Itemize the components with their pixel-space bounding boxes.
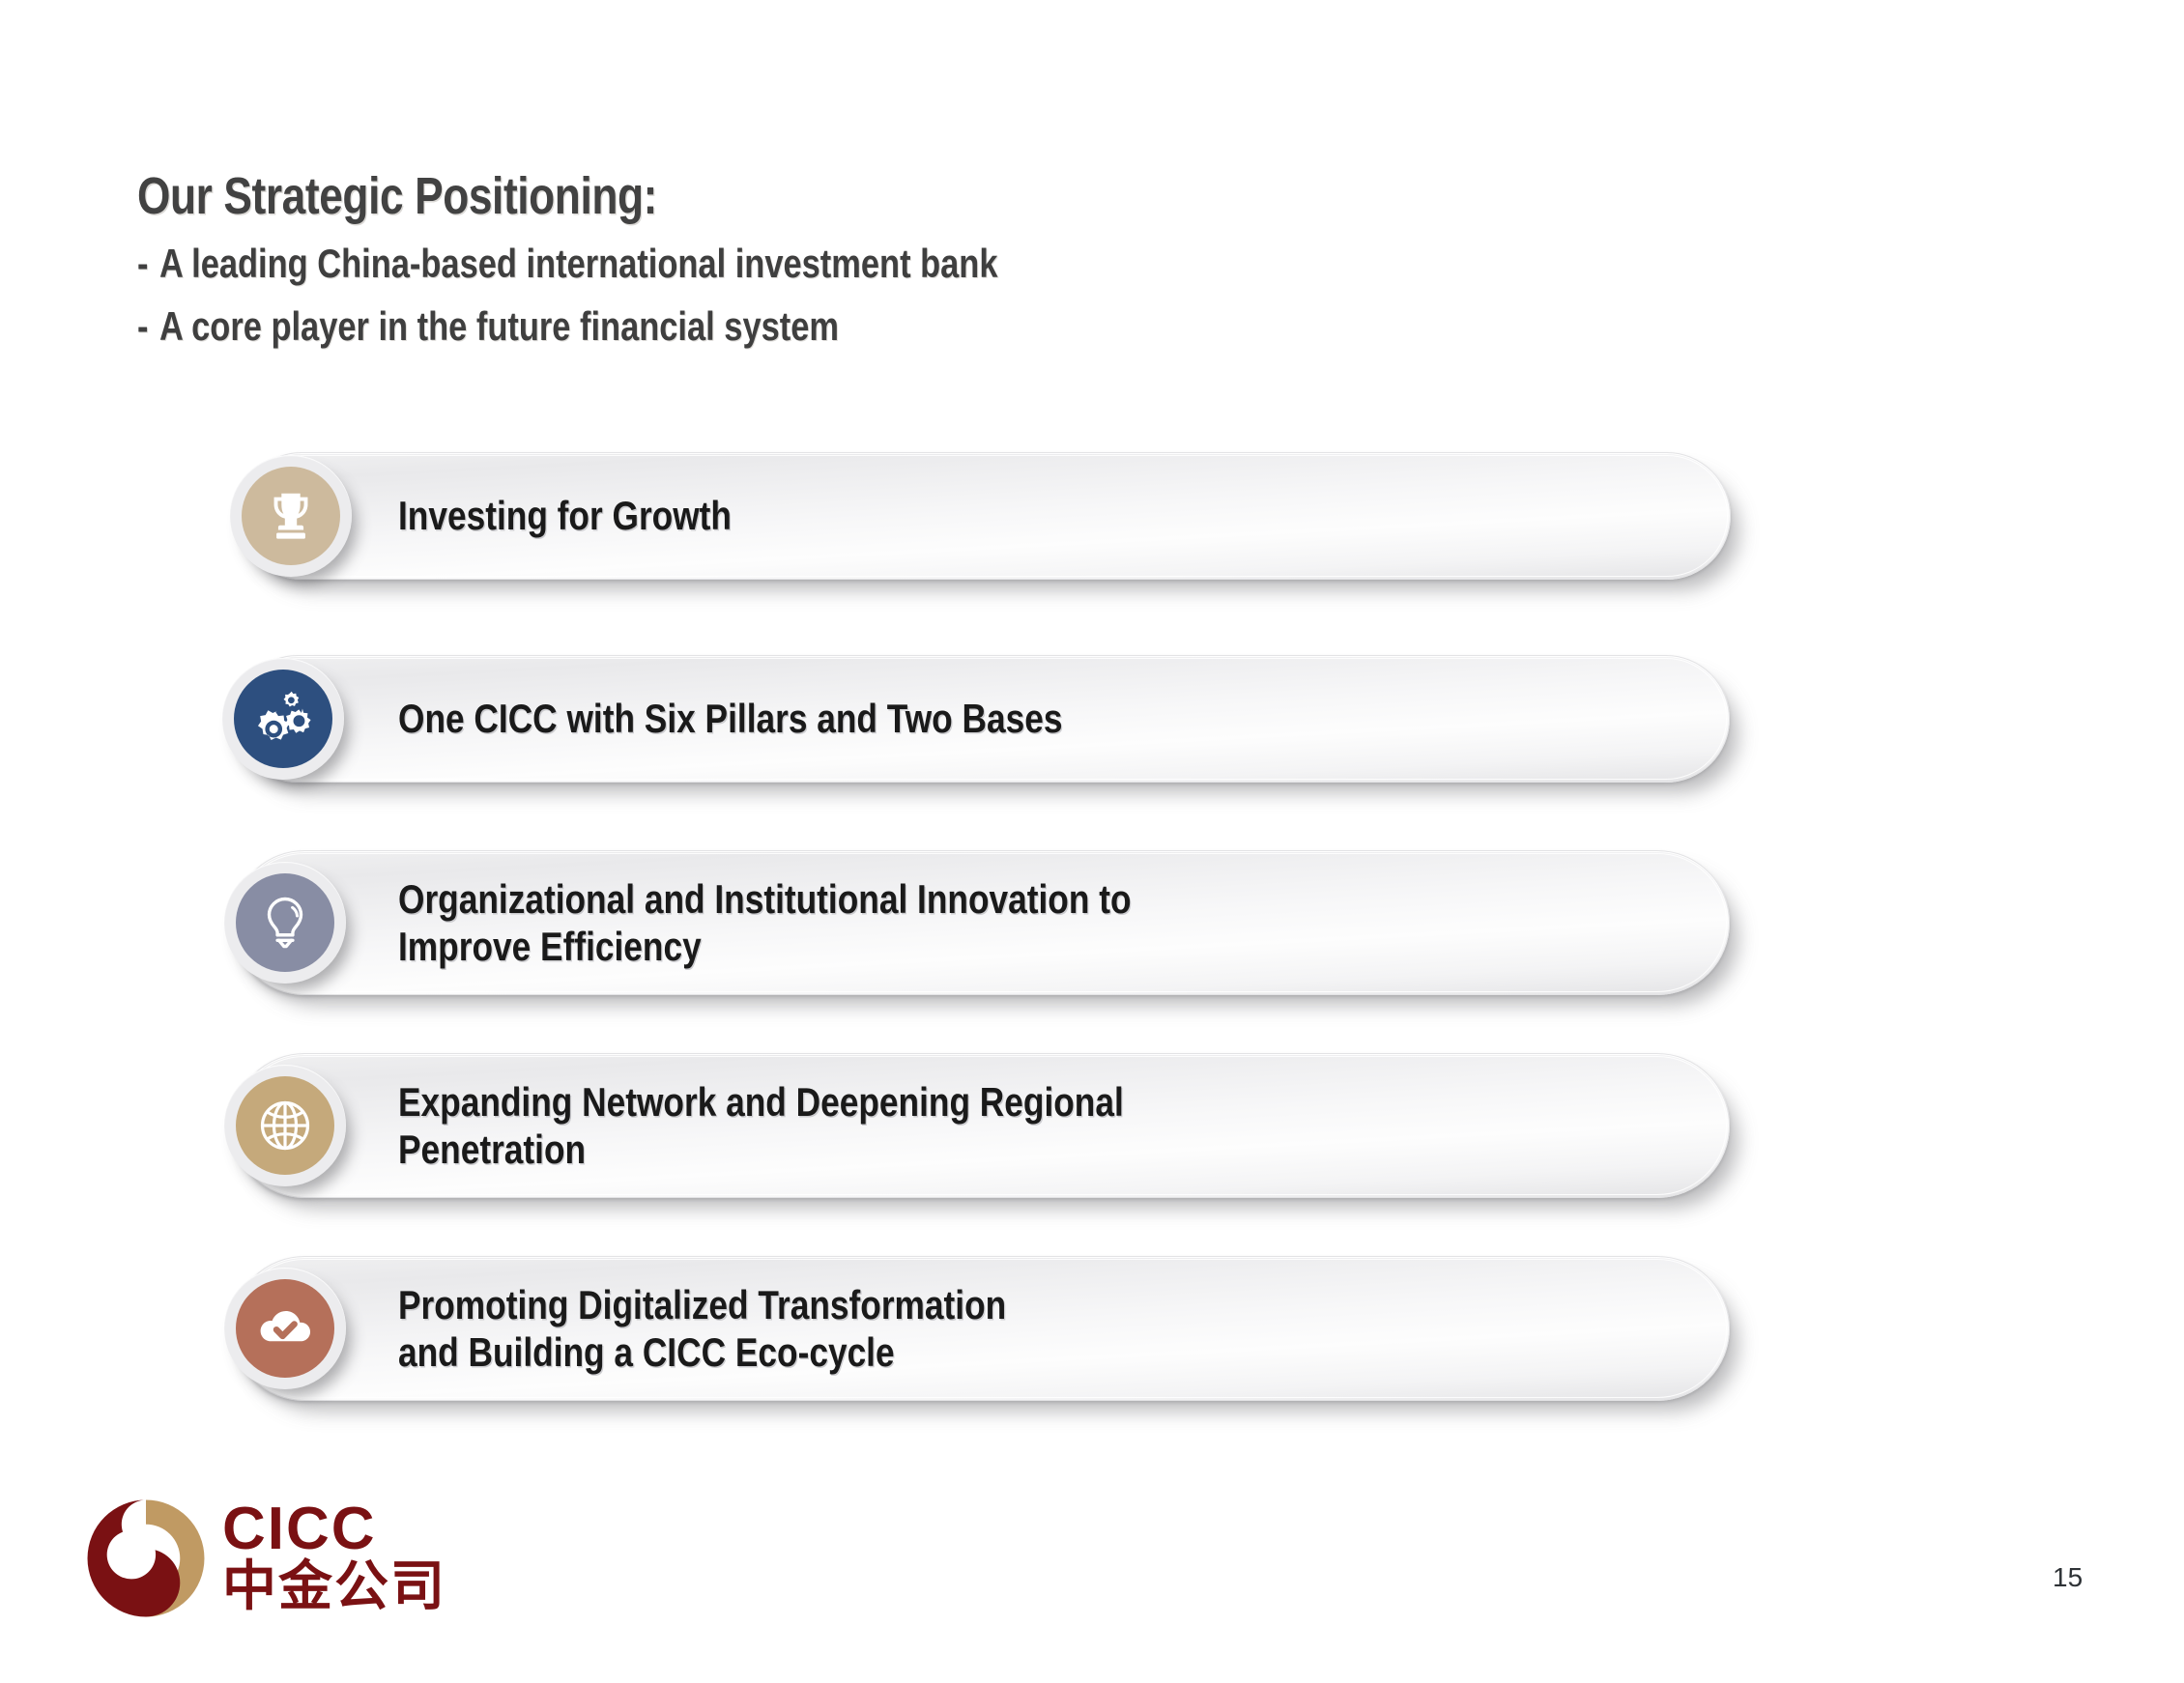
- strategy-pill-list: Investing for Growth One CICC with Six: [0, 0, 2184, 1683]
- pill-label: Promoting Digitalized Transformation and…: [398, 1256, 1006, 1401]
- cicc-logo-mark: [85, 1498, 207, 1619]
- pill-label: Expanding Network and Deepening Regional…: [398, 1053, 1124, 1198]
- logo-text-en: CICC: [222, 1500, 446, 1558]
- logo-text-cn: 中金公司: [222, 1559, 446, 1616]
- list-item[interactable]: One CICC with Six Pillars and Two Bases: [234, 655, 1730, 783]
- list-item[interactable]: Organizational and Institutional Innovat…: [232, 850, 1730, 995]
- list-item[interactable]: Promoting Digitalized Transformation and…: [232, 1256, 1730, 1401]
- pill-label: One CICC with Six Pillars and Two Bases: [398, 655, 1062, 783]
- trophy-icon: [230, 455, 352, 577]
- list-item[interactable]: Investing for Growth: [238, 452, 1731, 580]
- list-item[interactable]: Expanding Network and Deepening Regional…: [232, 1053, 1730, 1198]
- pill-label: Organizational and Institutional Innovat…: [398, 850, 1132, 995]
- page-number: 15: [2053, 1562, 2083, 1593]
- lightbulb-icon: [224, 862, 346, 984]
- globe-icon: [224, 1065, 346, 1186]
- cloud-check-icon: [224, 1268, 346, 1389]
- gears-icon: [222, 658, 344, 780]
- cicc-logo: CICC 中金公司: [85, 1498, 446, 1619]
- pill-label: Investing for Growth: [398, 452, 732, 580]
